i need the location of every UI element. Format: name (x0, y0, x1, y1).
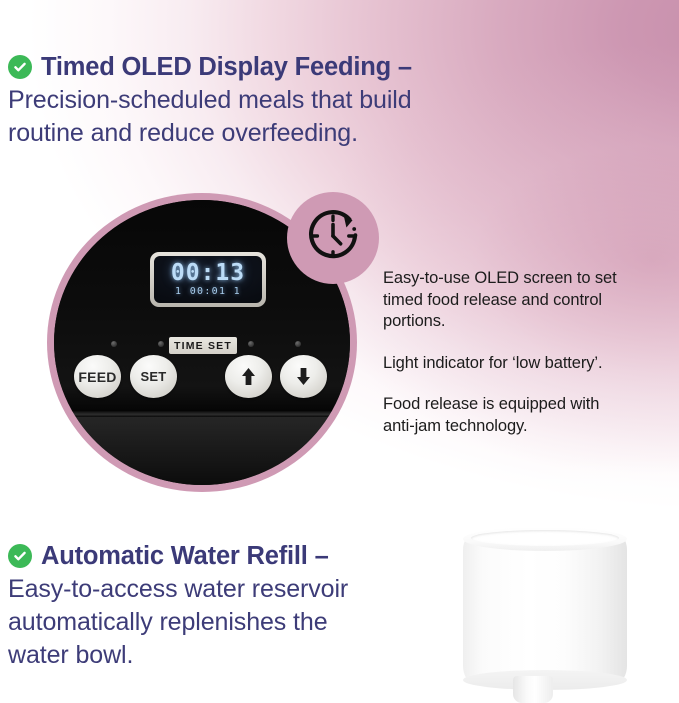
led-indicator-dot (248, 341, 254, 347)
feature-body-line: routine and reduce overfeeding. (8, 117, 608, 150)
oled-main-time: 00:13 (171, 261, 245, 285)
check-circle-icon (8, 544, 32, 568)
reservoir-body (463, 534, 627, 682)
arrow-down-icon (296, 367, 311, 386)
feed-button[interactable]: FEED (74, 355, 121, 398)
side-copy-paragraph: Food release is equipped with anti-jam t… (383, 394, 633, 437)
check-circle-icon (8, 55, 32, 79)
led-indicator-dot (295, 341, 301, 347)
feature-heading-row: Automatic Water Refill – (8, 541, 478, 572)
side-copy-paragraph: Easy-to-use OLED screen to set timed foo… (383, 268, 633, 333)
feature-title: Timed OLED Display Feeding – (41, 52, 412, 83)
oled-screen-bezel: 00:13 1 00:01 1 (150, 252, 266, 307)
feature-block-timed-oled: Timed OLED Display Feeding – Precision-s… (8, 52, 608, 150)
set-button-label: SET (141, 369, 167, 384)
feature-body-line: Easy-to-access water reservoir (8, 573, 478, 606)
oled-sub-line: 1 00:01 1 (175, 286, 241, 298)
feature-body-line: automatically replenishes the (8, 606, 478, 639)
side-copy-paragraph: Light indicator for ‘low battery’. (383, 353, 633, 375)
feature-body: Easy-to-access water reservoir automatic… (8, 573, 478, 672)
feature-body: Precision-scheduled meals that build rou… (8, 84, 608, 150)
reservoir-spout (513, 676, 553, 703)
time-set-label: TIME SET (174, 340, 232, 352)
feeder-lower-body (54, 417, 350, 485)
side-copy-list: Easy-to-use OLED screen to set timed foo… (383, 268, 633, 437)
water-reservoir-photo (455, 524, 635, 703)
up-button[interactable] (225, 355, 272, 398)
time-set-label-plate: TIME SET (169, 337, 237, 354)
feature-title: Automatic Water Refill – (41, 541, 329, 572)
feature-body-line: water bowl. (8, 639, 478, 672)
feed-button-label: FEED (78, 369, 116, 385)
oled-screen: 00:13 1 00:01 1 (154, 256, 262, 303)
feeder-seam-line (54, 410, 350, 417)
feature-heading-row: Timed OLED Display Feeding – (8, 52, 608, 83)
set-button[interactable]: SET (130, 355, 177, 398)
led-indicator-dot (158, 341, 164, 347)
feature-block-automatic-water-refill: Automatic Water Refill – Easy-to-access … (8, 541, 478, 672)
feature-body-line: Precision-scheduled meals that build (8, 84, 608, 117)
clock-timer-icon (302, 205, 364, 272)
down-button[interactable] (280, 355, 327, 398)
timer-badge (287, 192, 379, 284)
led-indicator-dot (111, 341, 117, 347)
arrow-up-icon (241, 367, 256, 386)
reservoir-top-opening (471, 530, 619, 546)
